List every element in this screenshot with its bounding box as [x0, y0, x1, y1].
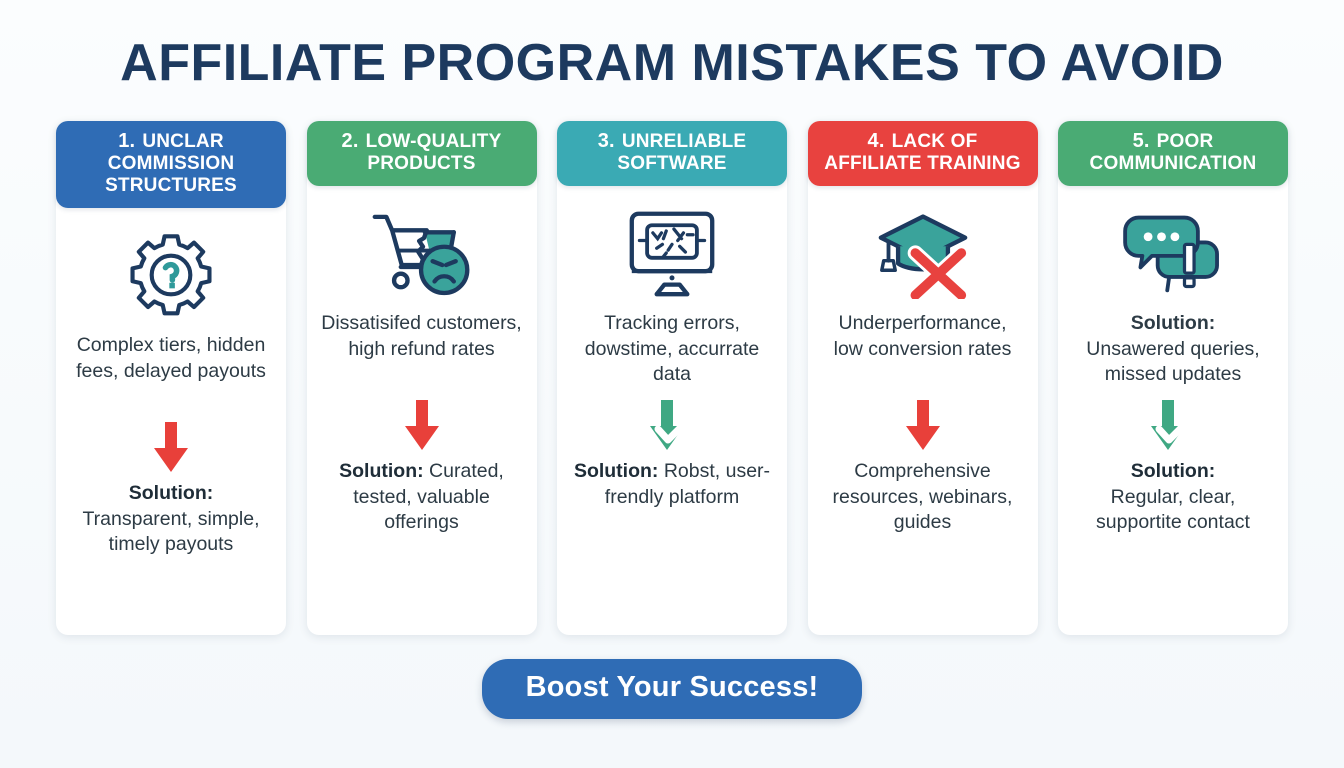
card-4-number: 4.: [868, 130, 885, 152]
card-3-title-line1: UNRELIABLE: [622, 131, 746, 152]
arrow-down-red: [899, 393, 947, 459]
card-1-solution-label: Solution:: [129, 482, 213, 504]
arrow-down-red: [147, 415, 195, 481]
card-1-title-line1: UNCLAR: [142, 131, 223, 152]
infographic-page: AFFILIATE PROGRAM MISTAKES TO AVOID 1.UN…: [0, 0, 1344, 768]
card-1-number: 1.: [118, 130, 135, 152]
arrow-down-red: [398, 393, 446, 459]
card-5-solution-label: Solution:: [1131, 460, 1215, 482]
card-5-problem: Solution:Unsawered queries, missed updat…: [1058, 311, 1288, 393]
cta-area: Boost Your Success!: [0, 659, 1344, 719]
card-2-title-line1: LOW-QUALITY: [366, 131, 502, 152]
mistake-card-3[interactable]: 3.UNRELIABLE SOFTWARE Tracking errors, d…: [557, 121, 787, 635]
card-2-header: 2.LOW-QUALITY PRODUCTS: [307, 121, 537, 187]
card-5-solution: Solution:Regular, clear, supportite cont…: [1058, 459, 1288, 535]
page-title: AFFILIATE PROGRAM MISTAKES TO AVOID: [120, 36, 1224, 91]
card-4-title-line2: AFFILIATE TRAINING: [814, 153, 1032, 175]
card-2-problem: Dissatisifed customers, high refund rate…: [307, 311, 537, 393]
mistake-card-4[interactable]: 4.LACK OF AFFILIATE TRAINING Underperfor…: [808, 121, 1038, 635]
card-1-problem: Complex tiers, hidden fees, delayed payo…: [56, 333, 286, 415]
arrow-down-green-check: [644, 393, 700, 459]
card-5-title-line1: POOR: [1157, 131, 1214, 152]
card-2-title-line2: PRODUCTS: [313, 153, 531, 175]
speech-bubbles-icon: [1123, 200, 1223, 305]
card-2-solution: Solution: Curated, tested, valuable offe…: [307, 459, 537, 535]
mistake-card-2[interactable]: 2.LOW-QUALITY PRODUCTS Dissatisifed c: [307, 121, 537, 635]
arrow-down-green-check: [1145, 393, 1201, 459]
mistake-card-5[interactable]: 5.POOR COMMUNICATION Solution:Unsawered …: [1058, 121, 1288, 635]
gear-question-icon: [125, 222, 217, 327]
card-3-title-line2: SOFTWARE: [563, 153, 781, 175]
mistake-cards-row: 1.UNCLAR COMMISSION STRUCTURES Complex t…: [56, 121, 1288, 635]
card-2-solution-label: Solution:: [339, 460, 423, 482]
graduation-cap-x-icon: [873, 200, 973, 305]
card-5-number: 5.: [1133, 130, 1150, 152]
card-4-header: 4.LACK OF AFFILIATE TRAINING: [808, 121, 1038, 187]
card-4-solution: Comprehensive resources, webinars, guide…: [808, 459, 1038, 535]
card-5-problem-text: Unsawered queries, missed updates: [1086, 338, 1259, 385]
card-4-title-line1: LACK OF: [892, 131, 978, 152]
card-3-solution: Solution: Robst, user-frendly platform: [557, 459, 787, 510]
card-5-title-line2: COMMUNICATION: [1064, 153, 1282, 175]
broken-cart-angry-face-icon: [369, 200, 475, 305]
card-3-solution-label: Solution:: [574, 460, 658, 482]
card-1-solution-text: Transparent, simple, timely payouts: [82, 508, 259, 555]
card-1-title-line2: COMMISSION STRUCTURES: [62, 153, 280, 197]
mistake-card-1[interactable]: 1.UNCLAR COMMISSION STRUCTURES Complex t…: [56, 121, 286, 635]
card-3-header: 3.UNRELIABLE SOFTWARE: [557, 121, 787, 187]
card-5-solution-text: Regular, clear, supportite contact: [1096, 486, 1250, 533]
boost-your-success-button[interactable]: Boost Your Success!: [482, 659, 863, 719]
card-1-header: 1.UNCLAR COMMISSION STRUCTURES: [56, 121, 286, 209]
monitor-error-icon: [624, 200, 720, 305]
card-3-number: 3.: [598, 130, 615, 152]
card-3-problem: Tracking errors, dowstime, accurrate dat…: [557, 311, 787, 393]
card-5-header: 5.POOR COMMUNICATION: [1058, 121, 1288, 187]
card-5-problem-label: Solution:: [1131, 312, 1215, 334]
card-4-solution-text: Comprehensive resources, webinars, guide…: [833, 460, 1013, 533]
card-2-number: 2.: [342, 130, 359, 152]
card-4-problem: Underperformance, low conversion rates: [808, 311, 1038, 393]
card-1-solution: Solution:Transparent, simple, timely pay…: [56, 481, 286, 557]
